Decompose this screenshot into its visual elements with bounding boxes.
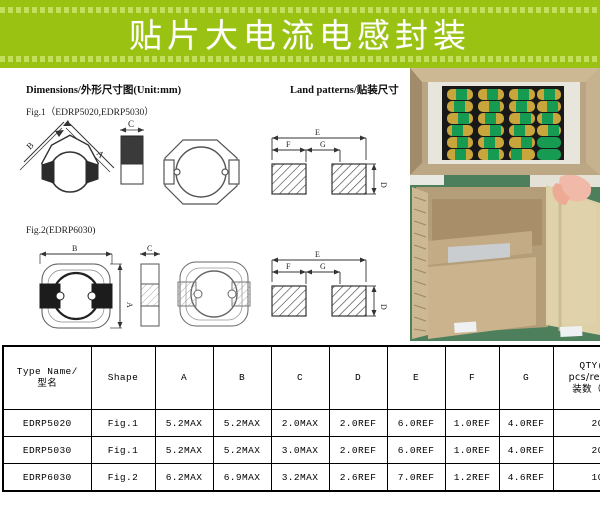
table-row: EDRP6030 Fig.2 6.2MAX 6.9MAX 3.2MAX 2.6R… bbox=[3, 464, 600, 492]
table-row: EDRP5020 Fig.1 5.2MAX 5.2MAX 2.0MAX 2.0R… bbox=[3, 410, 600, 437]
svg-text:B: B bbox=[72, 244, 77, 253]
svg-text:G: G bbox=[320, 262, 326, 271]
page-banner: 贴片大电流电感封装 bbox=[0, 0, 600, 68]
col-header-c: C bbox=[271, 346, 329, 410]
svg-text:E: E bbox=[315, 250, 320, 259]
svg-text:B: B bbox=[24, 140, 35, 151]
land-pattern-1-drawing: E F G D bbox=[262, 126, 392, 216]
cell-type-name: EDRP5020 bbox=[3, 410, 91, 437]
col-header-type-name-cn: 型名 bbox=[37, 378, 57, 389]
fig1-label: Fig.1（EDRP5020,EDRP5030） bbox=[26, 104, 154, 118]
cell-g: 4.0REF bbox=[499, 437, 553, 464]
svg-text:C: C bbox=[147, 244, 152, 253]
col-header-d: D bbox=[329, 346, 387, 410]
cell-b: 5.2MAX bbox=[213, 410, 271, 437]
cell-type-name: EDRP6030 bbox=[3, 464, 91, 492]
cell-c: 3.2MAX bbox=[271, 464, 329, 492]
cell-d: 2.0REF bbox=[329, 410, 387, 437]
cell-shape: Fig.1 bbox=[91, 410, 155, 437]
cell-b: 5.2MAX bbox=[213, 437, 271, 464]
cell-g: 4.6REF bbox=[499, 464, 553, 492]
fig1-bottom-view-drawing bbox=[155, 126, 255, 216]
cell-b: 6.9MAX bbox=[213, 464, 271, 492]
land-patterns-heading: Land patterns/贴装尺寸 bbox=[290, 82, 399, 97]
svg-text:E: E bbox=[315, 128, 320, 137]
cell-d: 2.0REF bbox=[329, 437, 387, 464]
land-pattern-2-drawing: E F G D bbox=[262, 248, 392, 340]
cell-c: 2.0MAX bbox=[271, 410, 329, 437]
open-carton-photo bbox=[410, 175, 600, 341]
page-title: 贴片大电流电感封装 bbox=[129, 19, 471, 52]
col-header-qty-line3: 装数（个/盘） bbox=[572, 384, 600, 395]
reels-in-carton-photo bbox=[410, 68, 600, 175]
cell-qty: 2000 bbox=[553, 410, 600, 437]
col-header-type-name-en: Type Name/ bbox=[17, 366, 78, 377]
cell-d: 2.6REF bbox=[329, 464, 387, 492]
fig2-top-view-drawing: B A bbox=[26, 244, 136, 340]
cell-e: 6.0REF bbox=[387, 410, 445, 437]
banner-dashed-line-bottom bbox=[0, 56, 600, 62]
cell-a: 5.2MAX bbox=[155, 437, 213, 464]
table-body: EDRP5020 Fig.1 5.2MAX 5.2MAX 2.0MAX 2.0R… bbox=[3, 410, 600, 492]
spec-table-wrapper: Type Name/ 型名 Shape A B C D E F G QTY(MP… bbox=[2, 345, 598, 492]
cell-c: 3.0MAX bbox=[271, 437, 329, 464]
banner-dashed-line-top bbox=[0, 7, 600, 13]
cell-e: 6.0REF bbox=[387, 437, 445, 464]
col-header-qty-line2: pcs/reel最小包 bbox=[569, 372, 600, 383]
col-header-g: G bbox=[499, 346, 553, 410]
drawing-panel: Dimensions/外形尺寸图(Unit:mm) Land patterns/… bbox=[0, 68, 410, 343]
cell-f: 1.0REF bbox=[445, 437, 499, 464]
col-header-b: B bbox=[213, 346, 271, 410]
cell-e: 7.0REF bbox=[387, 464, 445, 492]
cell-qty: 1000 bbox=[553, 464, 600, 492]
svg-text:C: C bbox=[128, 120, 134, 129]
svg-text:F: F bbox=[286, 262, 291, 271]
svg-text:G: G bbox=[320, 140, 326, 149]
cell-type-name: EDRP5030 bbox=[3, 437, 91, 464]
col-header-qty-line1: QTY(MPQ) bbox=[579, 360, 600, 371]
cell-shape: Fig.2 bbox=[91, 464, 155, 492]
fig2-side-view-drawing: C bbox=[130, 244, 172, 340]
cell-f: 1.2REF bbox=[445, 464, 499, 492]
fig1-side-view-drawing: C bbox=[112, 120, 152, 220]
fig2-bottom-view-drawing bbox=[168, 248, 268, 340]
svg-text:D: D bbox=[379, 182, 388, 188]
cell-a: 5.2MAX bbox=[155, 410, 213, 437]
col-header-f: F bbox=[445, 346, 499, 410]
cell-f: 1.0REF bbox=[445, 410, 499, 437]
dimensions-heading: Dimensions/外形尺寸图(Unit:mm) bbox=[26, 82, 181, 97]
cell-shape: Fig.1 bbox=[91, 437, 155, 464]
svg-text:F: F bbox=[286, 140, 291, 149]
table-row: EDRP5030 Fig.1 5.2MAX 5.2MAX 3.0MAX 2.0R… bbox=[3, 437, 600, 464]
col-header-a: A bbox=[155, 346, 213, 410]
col-header-type-name: Type Name/ 型名 bbox=[3, 346, 91, 410]
col-header-shape: Shape bbox=[91, 346, 155, 410]
table-header-row: Type Name/ 型名 Shape A B C D E F G QTY(MP… bbox=[3, 346, 600, 410]
svg-text:D: D bbox=[379, 304, 388, 310]
fig2-label: Fig.2(EDRP6030) bbox=[26, 226, 95, 236]
spec-table: Type Name/ 型名 Shape A B C D E F G QTY(MP… bbox=[2, 345, 600, 492]
col-header-qty: QTY(MPQ) pcs/reel最小包 装数（个/盘） bbox=[553, 346, 600, 410]
cell-qty: 2000 bbox=[553, 437, 600, 464]
cell-a: 6.2MAX bbox=[155, 464, 213, 492]
col-header-e: E bbox=[387, 346, 445, 410]
cell-g: 4.0REF bbox=[499, 410, 553, 437]
